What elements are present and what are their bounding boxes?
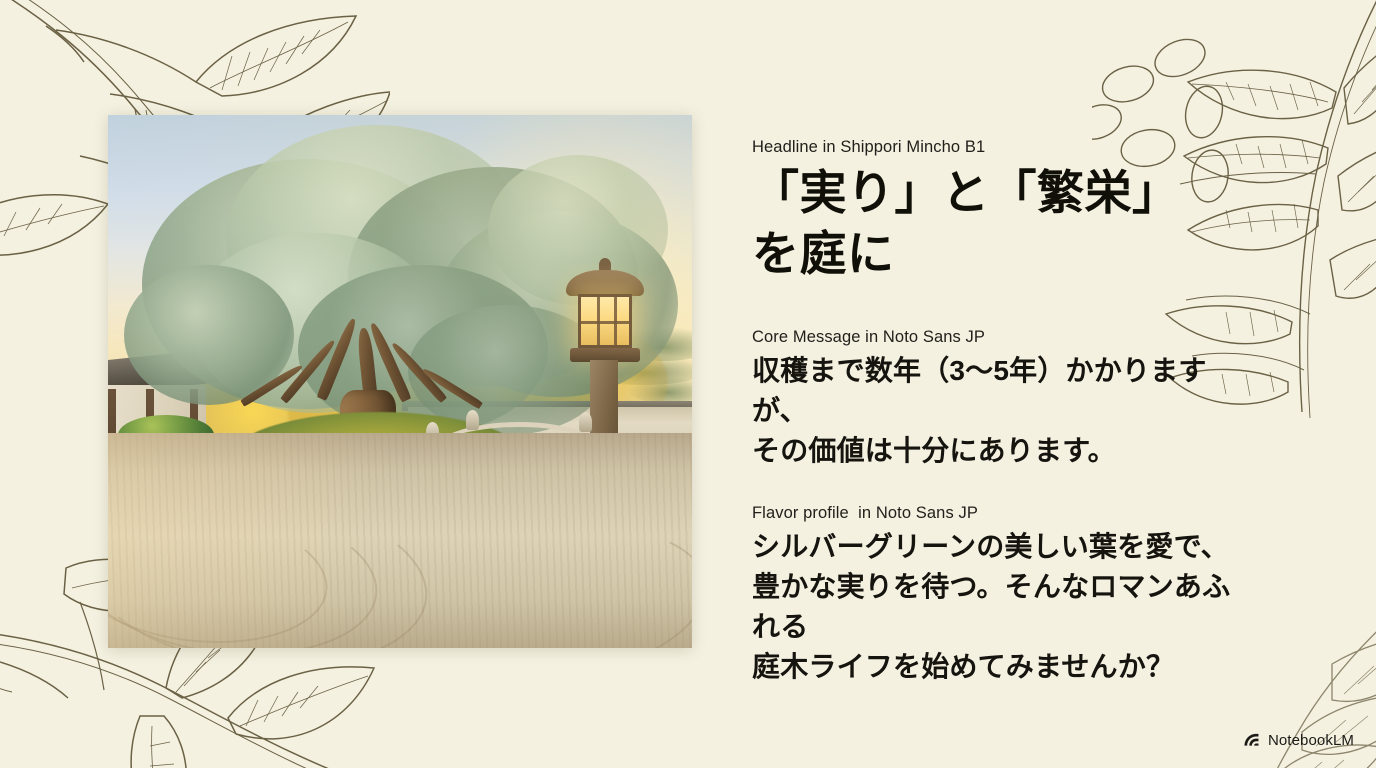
core-message-text: 収穫まで数年（3〜5年）かかりますが、 その価値は十分にあります。 bbox=[752, 351, 1252, 470]
core-message-block: Core Message in Noto Sans JP 収穫まで数年（3〜5年… bbox=[752, 328, 1252, 470]
flavor-profile-text: シルバーグリーンの美しい葉を愛で、 豊かな実りを待つ。そんなロマンあふれる 庭木… bbox=[752, 527, 1252, 686]
headline-line-1: 「実り」と「繁栄」 bbox=[752, 164, 1252, 225]
text-column: Headline in Shippori Mincho B1 「実り」と「繁栄」… bbox=[752, 138, 1252, 686]
headline-block: Headline in Shippori Mincho B1 「実り」と「繁栄」… bbox=[752, 138, 1252, 286]
notebooklm-brand: NotebookLM bbox=[1242, 731, 1354, 750]
flavor-profile-kicker: Flavor profile in Noto Sans JP bbox=[752, 504, 1252, 523]
headline-line-2: を庭に bbox=[752, 225, 1252, 286]
flavor-profile-line-2: 豊かな実りを待つ。そんなロマンあふれる bbox=[752, 567, 1252, 647]
flavor-profile-line-1: シルバーグリーンの美しい葉を愛で、 bbox=[752, 527, 1252, 567]
page-title: 「実り」と「繁栄」 を庭に bbox=[752, 164, 1252, 286]
core-message-line-1: 収穫まで数年（3〜5年）かかりますが、 bbox=[752, 351, 1252, 431]
notebooklm-spiral-icon bbox=[1242, 731, 1261, 750]
slide-canvas: Headline in Shippori Mincho B1 「実り」と「繁栄」… bbox=[0, 0, 1376, 768]
core-message-line-2: その価値は十分にあります。 bbox=[752, 431, 1252, 471]
brand-name: NotebookLM bbox=[1268, 732, 1354, 749]
garden-photo bbox=[108, 115, 692, 648]
flavor-profile-line-3: 庭木ライフを始めてみませんか？ bbox=[752, 647, 1252, 687]
core-message-kicker: Core Message in Noto Sans JP bbox=[752, 328, 1252, 347]
flavor-profile-block: Flavor profile in Noto Sans JP シルバーグリーンの… bbox=[752, 504, 1252, 686]
headline-kicker: Headline in Shippori Mincho B1 bbox=[752, 138, 1252, 157]
